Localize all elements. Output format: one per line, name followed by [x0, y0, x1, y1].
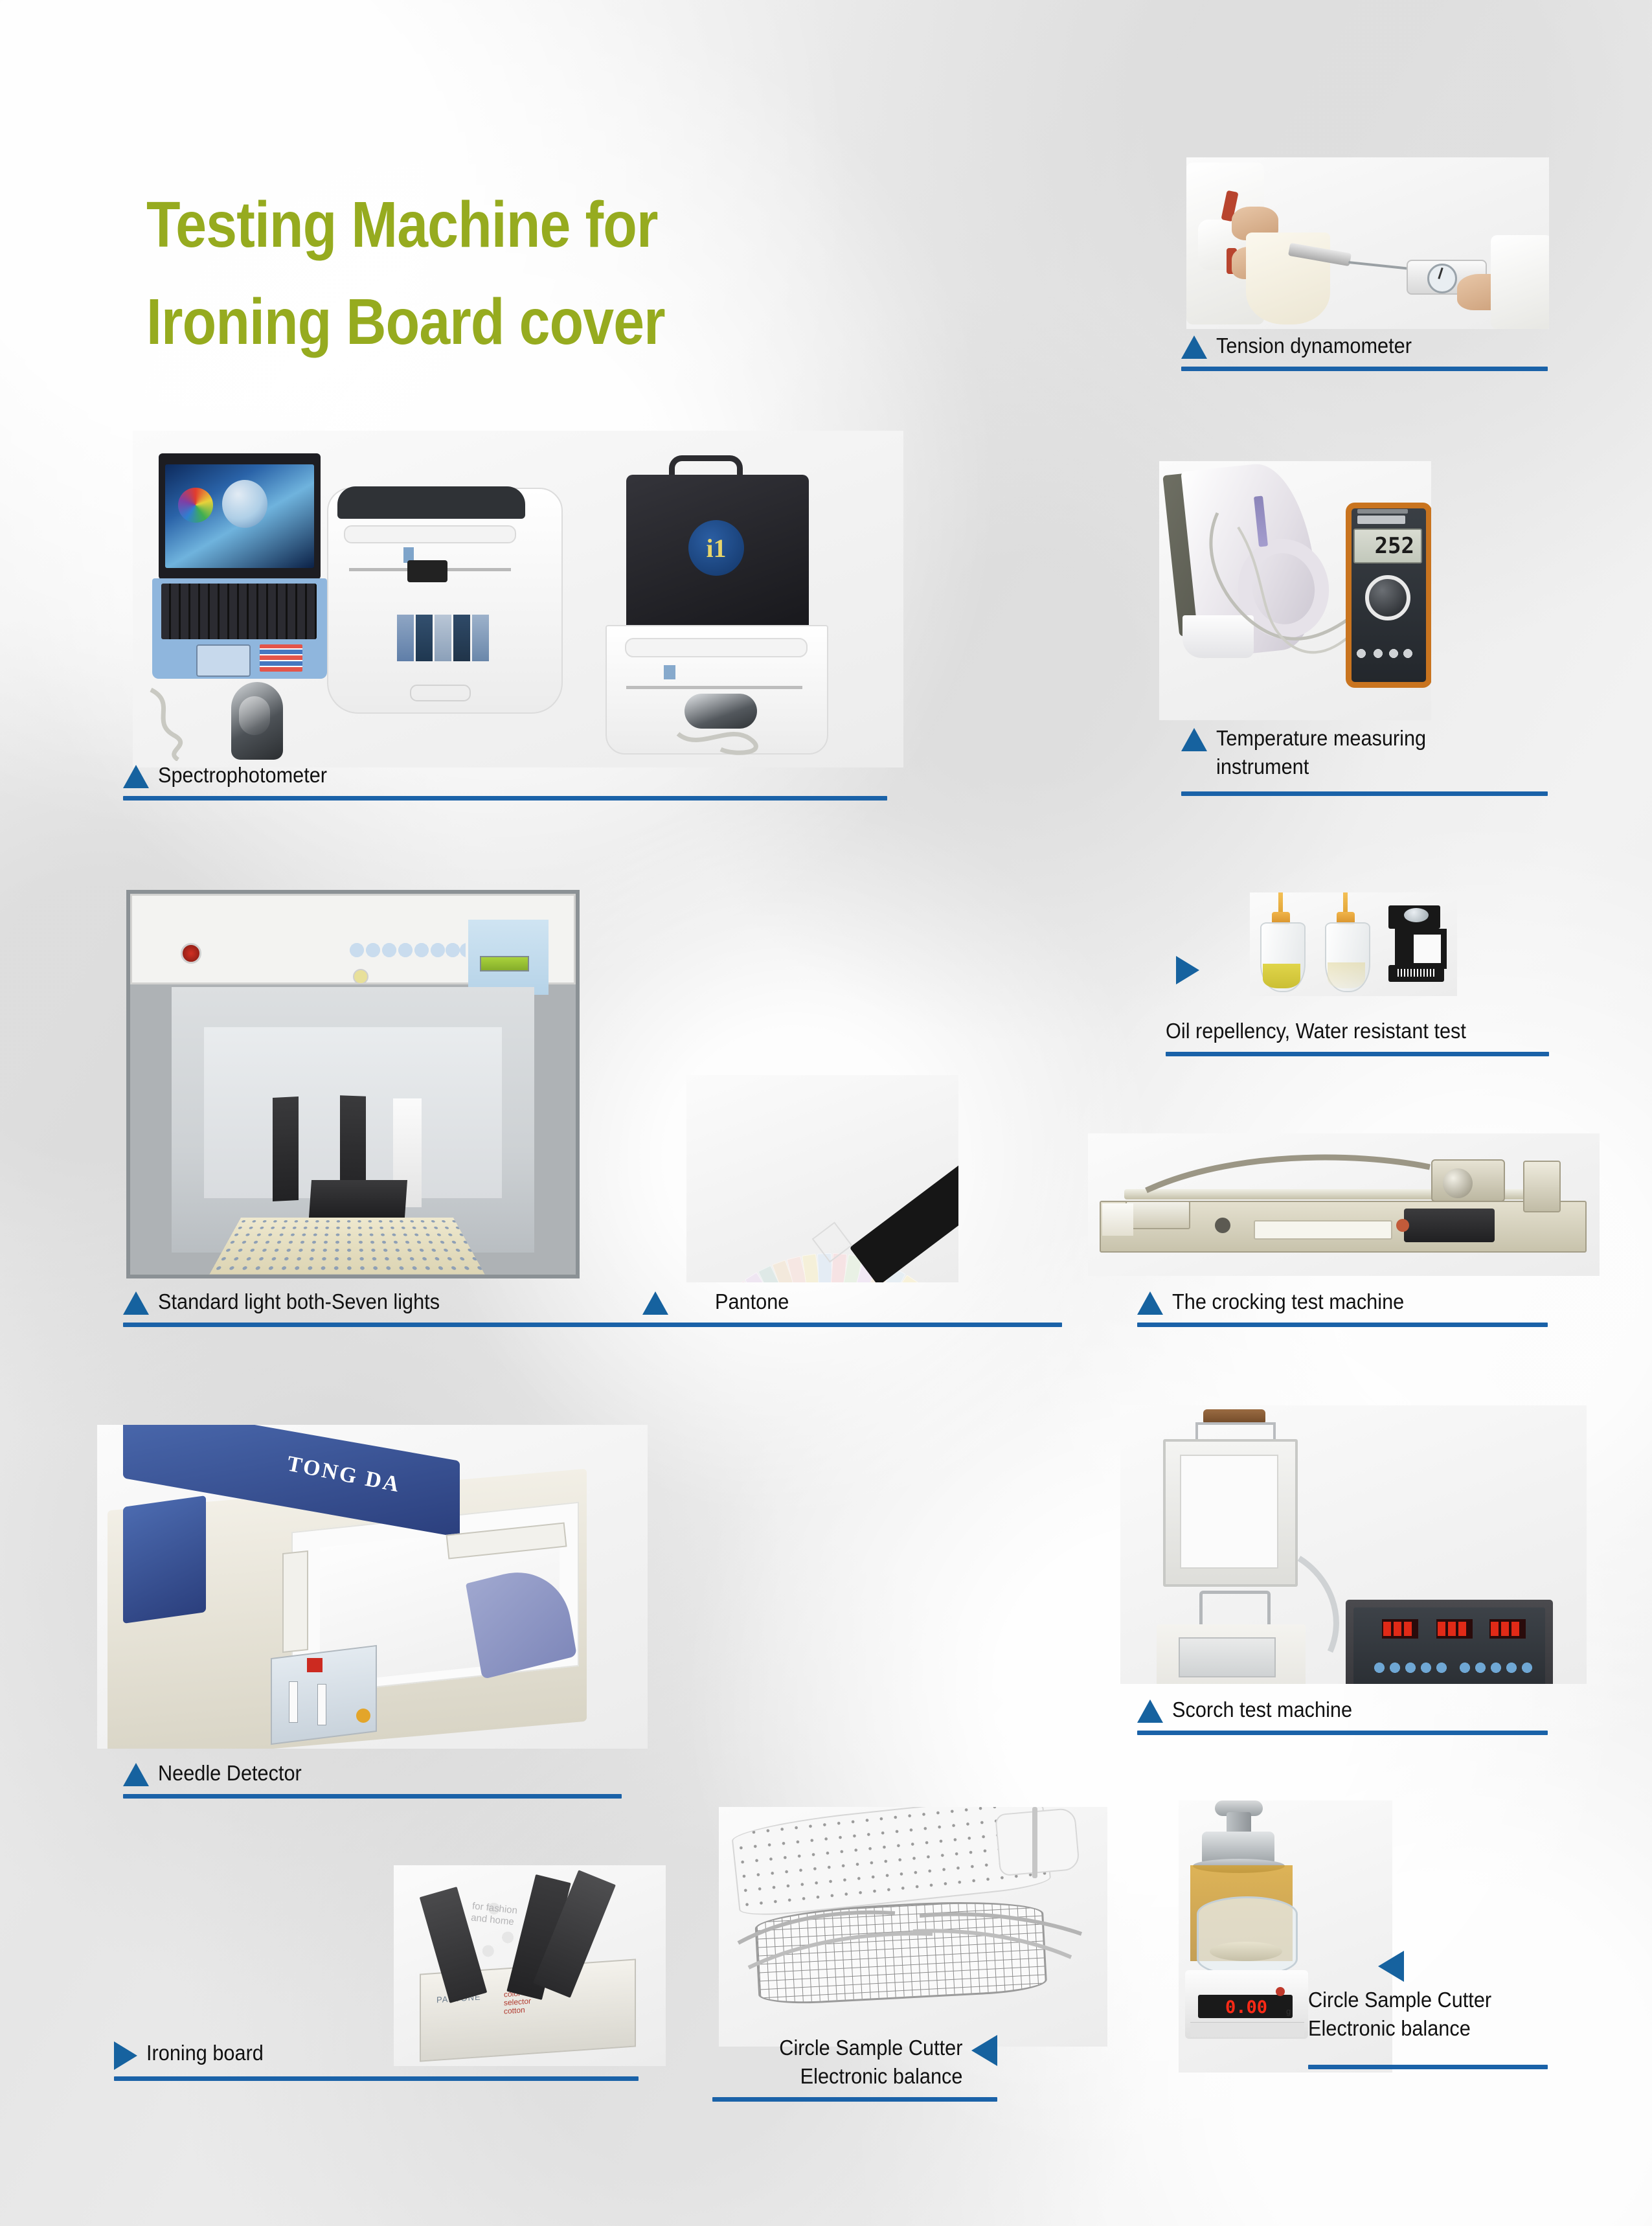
caption-rule: [1181, 367, 1548, 371]
lcd-display: [480, 956, 529, 971]
caption-standard-light-box: Standard light both-Seven lights Pantone: [123, 1288, 1062, 1327]
scanner-tray-slot: [344, 525, 516, 543]
ironing-board-post: [1032, 1807, 1037, 1878]
laptop-screen-colorwheel: [178, 488, 213, 523]
photo-tension-dynamometer: [1186, 157, 1549, 329]
caption-rule: [1308, 2065, 1548, 2069]
caption-label: Oil repellency, Water resistant test: [1166, 1017, 1466, 1045]
photo-crocking-test-machine: [1088, 1133, 1600, 1276]
balance-brand-dot: [1276, 1987, 1285, 1996]
multimeter-model: [1357, 516, 1405, 524]
case-base-note: [664, 665, 754, 679]
lab-coat-right: [1491, 235, 1549, 329]
multimeter-title: [1357, 509, 1408, 514]
card-label-text: for fashion and home: [470, 1900, 517, 1928]
caption-spectrophotometer: Spectrophotometer: [123, 761, 887, 801]
triangle-up-icon: [123, 1763, 149, 1786]
triangle-up-icon: [123, 765, 149, 788]
caption-label: Tension dynamometer: [1216, 332, 1412, 360]
sample-card-1: [273, 1096, 299, 1201]
oil-liquid: [1263, 964, 1300, 988]
crocking-wheel: [1443, 1168, 1473, 1198]
triangle-up-icon: [1181, 728, 1207, 751]
caption-ironing-board: Circle Sample Cutter Electronic balance: [712, 2034, 997, 2102]
i1-logo: i1: [688, 520, 744, 576]
scanner-tray-top-bar: [337, 486, 525, 519]
crocking-sample: [1102, 1203, 1133, 1236]
crocking-arm: [1140, 1148, 1477, 1199]
fabric-swatch-floor: [210, 1218, 485, 1275]
panel-amber-button: [356, 1709, 370, 1723]
crocking-knob-2: [1396, 1219, 1409, 1232]
photo-temperature-measuring: 252: [1159, 461, 1431, 720]
caption-rule: [123, 796, 887, 801]
caption-needle-detector: Needle Detector: [123, 1759, 622, 1799]
denim-swatches: [397, 615, 489, 661]
multimeter-jacks: [1353, 648, 1413, 659]
usb-cable: [138, 683, 222, 761]
caption-rule: [114, 2076, 639, 2081]
magnifier-scale: [1397, 969, 1436, 977]
magnifier-window: [1408, 929, 1447, 969]
triangle-up-icon: [1181, 335, 1207, 359]
led-display-temp: [1382, 1619, 1418, 1639]
laptop-keyboard: [161, 584, 317, 639]
laptop-screen-orb: [222, 480, 267, 528]
triangle-up-icon: [123, 1291, 149, 1315]
photo-gray-scale-card: PANTONE color selector cotton for fashio…: [394, 1865, 666, 2066]
balance-keys: [1190, 2022, 1304, 2037]
caption-label: Standard light both-Seven lights: [158, 1288, 440, 1316]
fabric-sample: [1246, 233, 1330, 324]
detector-arch-leg: [123, 1495, 206, 1624]
ironing-board-legs: [719, 1889, 1107, 2018]
caption-label: Ironing board: [146, 2039, 264, 2067]
case-cable: [659, 710, 788, 762]
photo-ironing-board: [719, 1807, 1107, 2047]
caption-rule: [1181, 791, 1548, 796]
caption-rule: [1166, 1052, 1549, 1056]
caption-label: Circle Sample Cutter Electronic balance: [779, 2034, 962, 2091]
scorch-plate-inner: [1180, 1455, 1278, 1569]
led-display-event: [1489, 1619, 1526, 1639]
scanner-tray: [327, 488, 563, 714]
photo-standard-light-box: [126, 890, 580, 1278]
crocking-left-clamp: [1126, 1201, 1190, 1229]
handheld-highlight: [239, 696, 270, 735]
water-liquid: [1328, 962, 1365, 988]
sample-card-flat: [309, 1180, 407, 1218]
balance-reading-value: 0.00: [1225, 1997, 1267, 2017]
caption-gray-scale-card: Ironing board: [114, 2039, 639, 2081]
caption-oil-water-test: Oil repellency, Water resistant test: [1166, 1017, 1549, 1056]
triangle-right-icon: [1176, 956, 1199, 984]
power-indicator: [181, 943, 201, 964]
caption-label: Circle Sample Cutter Electronic balance: [1308, 1986, 1491, 2043]
case-base-rail: [626, 686, 802, 689]
laptop-touchpad: [196, 644, 251, 677]
caption-label-pantone: Pantone: [715, 1288, 789, 1316]
triangle-up-icon: [1137, 1291, 1163, 1315]
lamp-buttons: [349, 942, 466, 959]
photo-oil-water-test: [1250, 892, 1457, 996]
laptop-sticker: [260, 644, 302, 672]
page-title-line-1: Testing Machine for: [146, 176, 815, 273]
caption-label: Needle Detector: [158, 1759, 302, 1788]
controller-buttons: [1374, 1661, 1536, 1675]
caption-rule: [123, 1794, 622, 1799]
caption-tension-dynamometer: Tension dynamometer: [1181, 332, 1548, 371]
crocking-right-post: [1523, 1161, 1561, 1212]
caption-temperature-measuring: Temperature measuring instrument: [1181, 724, 1548, 796]
caption-circle-cutter-balance: Circle Sample Cutter Electronic balance: [1308, 1949, 1548, 2069]
crocking-knob-1: [1215, 1218, 1230, 1233]
scanner-tray-handle: [410, 685, 471, 701]
caption-scorch-test-machine: Scorch test machine: [1137, 1696, 1548, 1735]
reset-button: [353, 969, 368, 984]
page-title: Testing Machine for Ironing Board cover: [146, 176, 923, 370]
photo-scorch-test-machine: [1120, 1405, 1587, 1684]
triangle-left-icon: [1378, 1951, 1404, 1982]
balance-pan: [1210, 1942, 1282, 1961]
balance-unit: g: [1286, 2006, 1291, 2016]
caption-crocking-test-machine: The crocking test machine: [1137, 1288, 1548, 1327]
multimeter-dial: [1365, 575, 1410, 620]
case-base-slot: [625, 638, 808, 657]
led-display-speed: [1436, 1619, 1473, 1639]
panel-slider-2: [317, 1684, 326, 1725]
crocking-carriage: [1404, 1209, 1495, 1242]
i1-logo-text: i1: [706, 533, 726, 563]
triangle-up-icon-pantone: [642, 1291, 668, 1315]
multimeter-lcd: 252: [1353, 528, 1422, 563]
caption-label: Spectrophotometer: [158, 761, 327, 789]
ironing-board-cover-tip: [995, 1808, 1080, 1876]
scanner-carriage: [407, 560, 447, 582]
triangle-right-icon: [114, 2041, 137, 2070]
caption-label: Scorch test machine: [1172, 1696, 1352, 1724]
crocking-control-strip: [1254, 1220, 1392, 1240]
triangle-up-icon: [1137, 1699, 1163, 1723]
photo-pantone-fan: FORMULA GUIDE /solid coated: [686, 1075, 958, 1282]
caption-rule: [712, 2097, 997, 2102]
caption-label: Temperature measuring instrument: [1216, 724, 1426, 781]
triangle-left-icon: [971, 2035, 997, 2066]
caption-label: The crocking test machine: [1172, 1288, 1404, 1316]
panel-slider-1: [289, 1681, 298, 1723]
page-title-line-2: Ironing Board cover: [146, 273, 815, 370]
scorch-base-platen: [1179, 1637, 1276, 1677]
panel-red-led: [307, 1658, 322, 1672]
photo-needle-detector: TONG DA: [97, 1425, 648, 1749]
caption-rule: [1137, 1731, 1548, 1735]
scorch-hinge: [1199, 1591, 1271, 1628]
detector-guide-bar: [282, 1550, 308, 1653]
caption-rule: [1137, 1323, 1548, 1327]
balance-glass-cover: [1197, 1896, 1298, 1977]
multimeter-reading: 252: [1375, 533, 1414, 559]
caption-rule: [123, 1323, 1062, 1327]
magnifier-lens: [1404, 908, 1429, 922]
photo-spectrophotometer: i1: [133, 431, 903, 767]
